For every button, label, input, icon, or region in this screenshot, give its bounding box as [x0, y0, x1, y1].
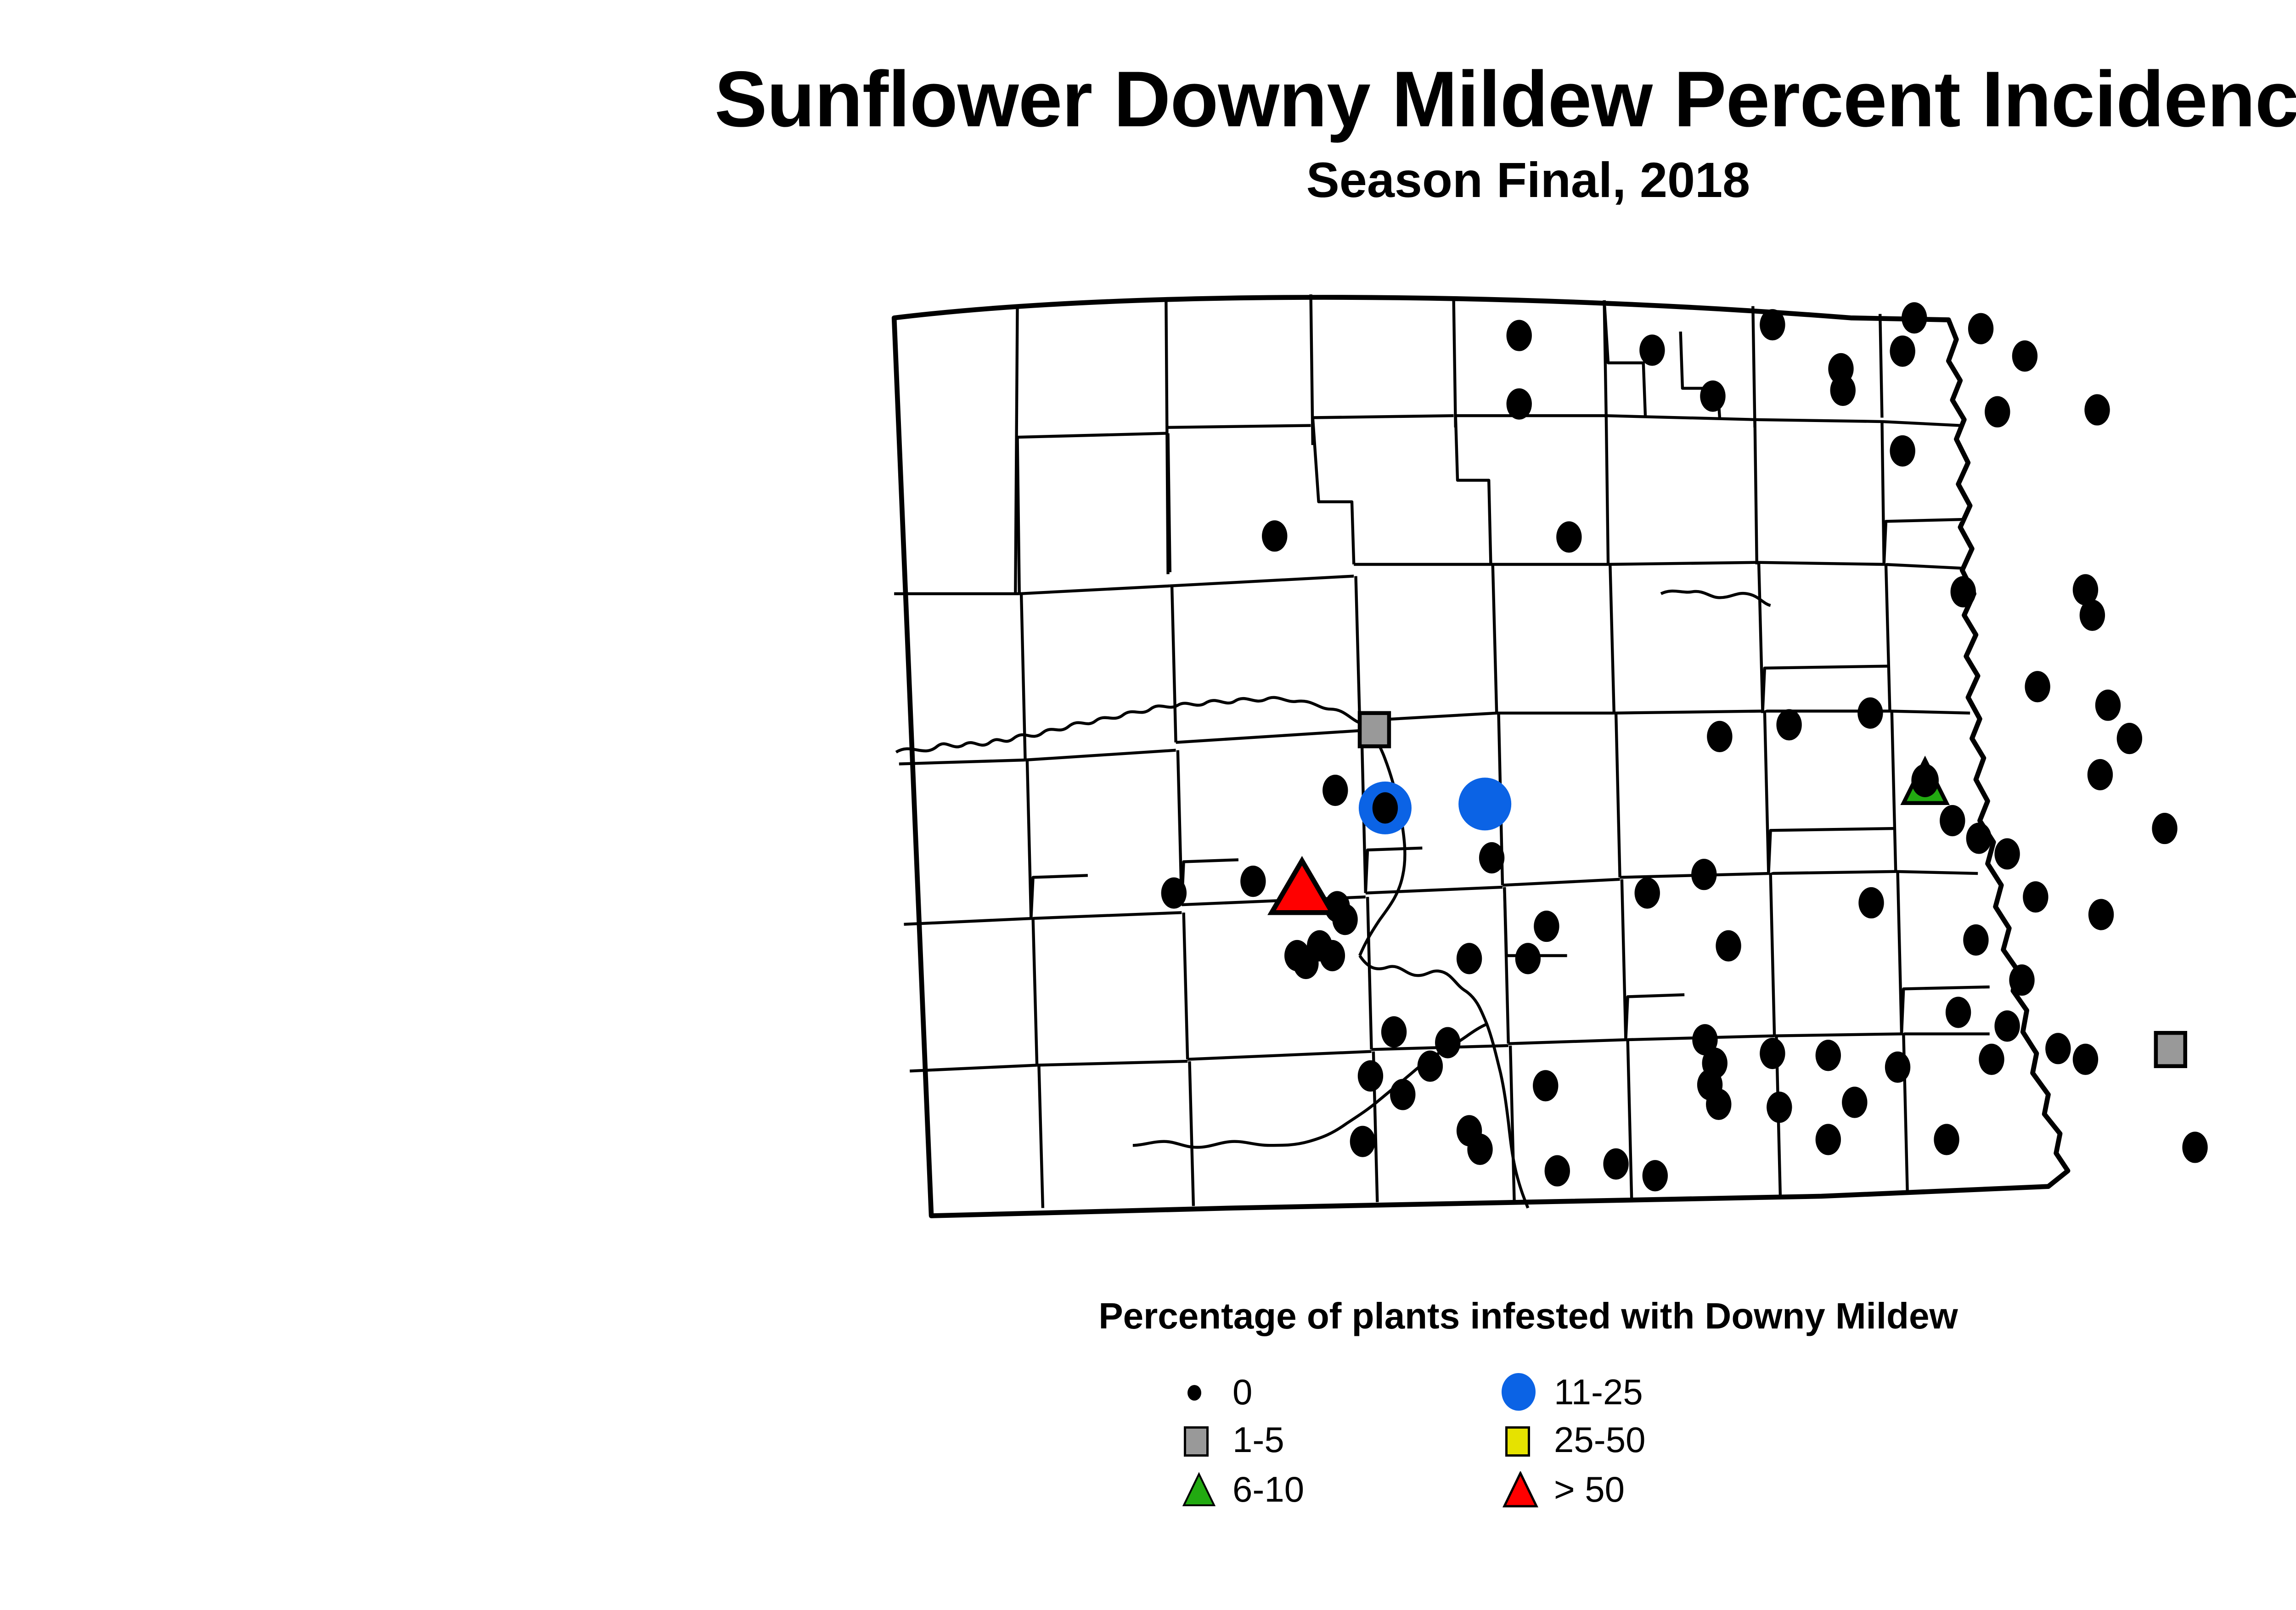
legend-symbol-gray-square-icon: [1170, 1420, 1230, 1459]
legend: Percentage of plants infested with Downy…: [0, 1295, 2296, 1510]
red-triangle-icon: [1503, 1471, 1538, 1508]
legend-grid: 0 1-5 6-10 11-25: [1170, 1372, 1886, 1510]
legend-symbol-green-triangle-icon: [1170, 1469, 1230, 1509]
legend-label-25-50: 25-50: [1554, 1422, 1646, 1458]
map-page: Sunflower Downy Mildew Percent Incidence…: [0, 0, 2296, 1610]
legend-label-11-25: 11-25: [1554, 1374, 1643, 1410]
legend-label-0: 0: [1232, 1374, 1252, 1410]
title-block: Sunflower Downy Mildew Percent Incidence…: [0, 60, 2296, 205]
legend-label-over-50: > 50: [1554, 1471, 1625, 1507]
legend-symbol-yellow-square-icon: [1491, 1420, 1551, 1459]
legend-item-over-50[interactable]: > 50: [1491, 1469, 1625, 1509]
legend-item-0[interactable]: 0: [1170, 1372, 1252, 1412]
legend-item-11-25[interactable]: 11-25: [1491, 1372, 1643, 1412]
legend-label-6-10: 6-10: [1232, 1471, 1304, 1507]
legend-symbol-red-triangle-icon: [1491, 1469, 1551, 1509]
page-title: Sunflower Downy Mildew Percent Incidence: [0, 60, 2296, 139]
legend-label-1-5: 1-5: [1232, 1422, 1284, 1458]
legend-item-6-10[interactable]: 6-10: [1170, 1469, 1304, 1509]
north-dakota-county-map: [716, 271, 2296, 1249]
green-triangle-icon: [1181, 1471, 1217, 1508]
legend-symbol-blue-circle-icon: [1491, 1372, 1551, 1412]
legend-item-25-50[interactable]: 25-50: [1491, 1420, 1646, 1459]
legend-item-1-5[interactable]: 1-5: [1170, 1420, 1284, 1459]
page-subtitle: Season Final, 2018: [0, 155, 2296, 205]
legend-caption: Percentage of plants infested with Downy…: [0, 1295, 2296, 1337]
map-svg: [716, 271, 2296, 1249]
legend-symbol-black-dot-icon: [1170, 1372, 1230, 1412]
